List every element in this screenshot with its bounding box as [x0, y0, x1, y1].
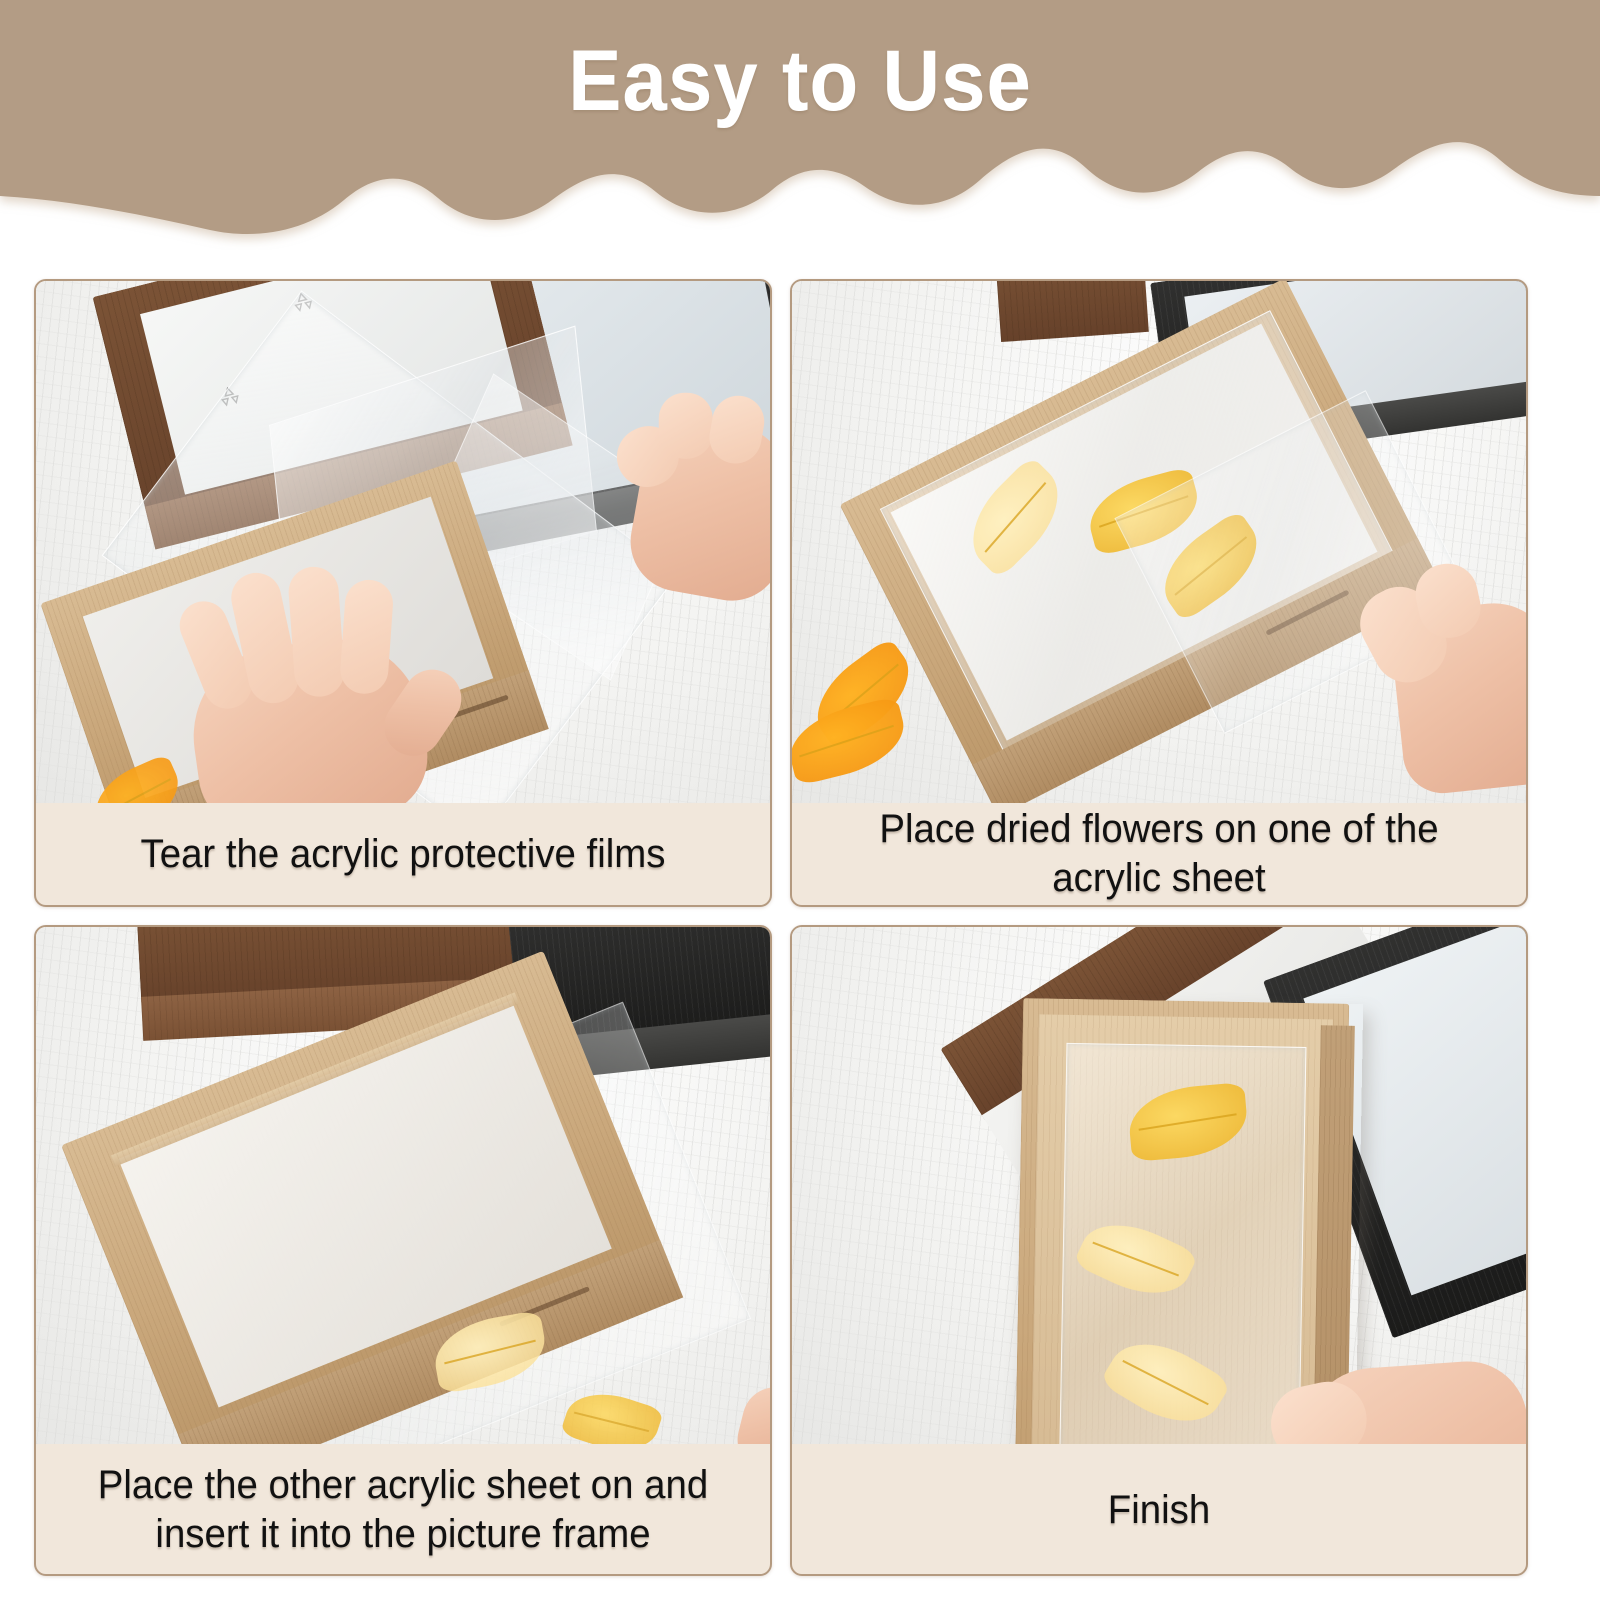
step-3-photo-insert-second-sheet [36, 927, 770, 1444]
step-4-photo-finished-frame [792, 927, 1526, 1444]
page-title: Easy to Use [56, 38, 1544, 124]
step-panel-3: Place the other acrylic sheet on and ins… [34, 925, 772, 1576]
step-4-caption: Finish [807, 1446, 1512, 1574]
step-1-caption: Tear the acrylic protective films [51, 803, 756, 905]
step-panel-2: Place dried flowers on one of the acryli… [790, 279, 1528, 907]
step-2-photo-place-dried-flowers [792, 281, 1526, 803]
left-hand [138, 541, 501, 803]
right-hand [1351, 532, 1526, 800]
step-2-caption: Place dried flowers on one of the acryli… [807, 803, 1512, 905]
step-panel-4: Finish [790, 925, 1528, 1576]
walnut-frame [995, 281, 1149, 342]
step-3-caption: Place the other acrylic sheet on and ins… [51, 1446, 756, 1574]
step-panel-1: Tear the acrylic protective films [34, 279, 772, 907]
steps-grid: Tear the acrylic protective films [34, 279, 1566, 1576]
step-1-photo-tear-protective-film [36, 281, 770, 803]
right-hand [1234, 1305, 1526, 1444]
header-banner: Easy to Use [0, 0, 1600, 250]
